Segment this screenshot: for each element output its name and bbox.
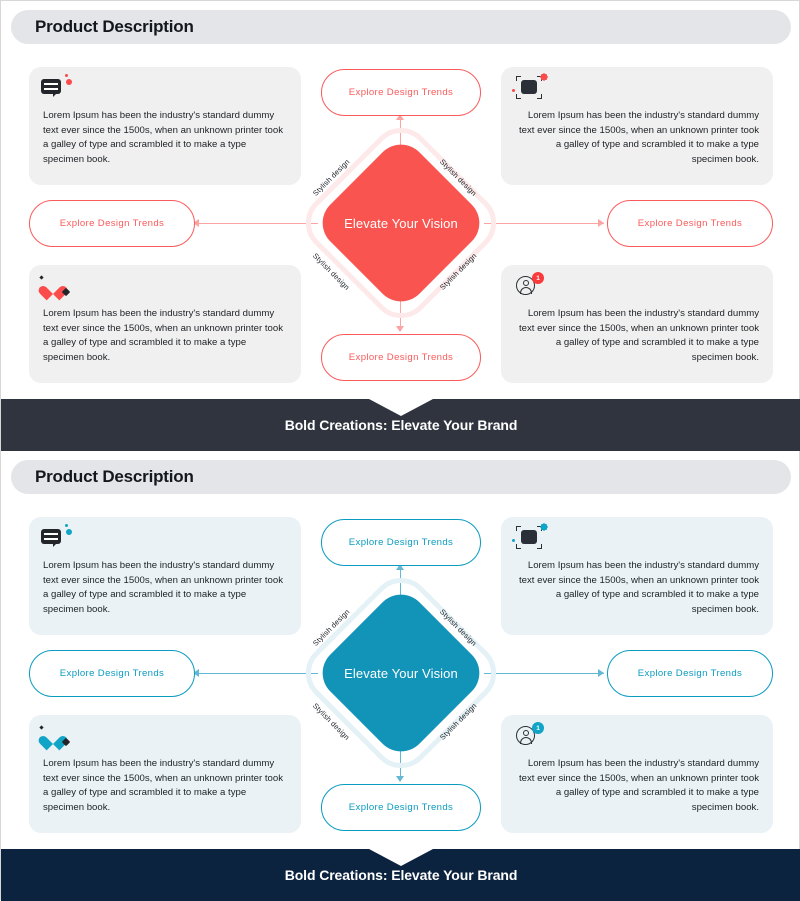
arrow-right-icon	[598, 669, 604, 677]
button-label: Explore Design Trends	[638, 668, 742, 679]
explore-design-trends-button-top[interactable]: Explore Design Trends	[321, 519, 481, 566]
footer-text: Bold Creations: Elevate Your Brand	[285, 417, 518, 433]
section-header-bar: Product Description	[11, 10, 791, 44]
button-label: Explore Design Trends	[638, 218, 742, 229]
section-header-bar: Product Description	[11, 460, 791, 494]
feature-card-text: Lorem Ipsum has been the industry's stan…	[513, 307, 761, 365]
chat-bubble-icon	[41, 77, 83, 103]
feature-card-top-left: Lorem Ipsum has been the industry's stan…	[29, 67, 301, 185]
feature-card-top-right: Lorem Ipsum has been the industry's stan…	[501, 517, 773, 635]
page-title: Product Description	[35, 467, 194, 487]
feature-card-text: Lorem Ipsum has been the industry's stan…	[41, 109, 289, 167]
feature-card-text: Lorem Ipsum has been the industry's stan…	[41, 559, 289, 617]
explore-design-trends-button-bottom[interactable]: Explore Design Trends	[321, 334, 481, 381]
explore-design-trends-button-left[interactable]: Explore Design Trends	[29, 650, 195, 697]
button-label: Explore Design Trends	[349, 87, 453, 98]
infographic-section-teal: Product Description Lorem Ipsum has been…	[1, 451, 800, 901]
feature-card-bottom-right: 1 Lorem Ipsum has been the industry's st…	[501, 715, 773, 833]
feature-card-top-left: Lorem Ipsum has been the industry's stan…	[29, 517, 301, 635]
page-title: Product Description	[35, 17, 194, 37]
explore-design-trends-button-left[interactable]: Explore Design Trends	[29, 200, 195, 247]
connector-line-left	[198, 223, 318, 224]
connector-line-left	[198, 673, 318, 674]
user-avatar-icon: 1	[515, 725, 557, 751]
feature-card-text: Lorem Ipsum has been the industry's stan…	[41, 757, 289, 815]
footer-text: Bold Creations: Elevate Your Brand	[285, 867, 518, 883]
center-hub: Elevate Your Vision Stylish design Styli…	[321, 593, 481, 753]
feature-card-top-right: Lorem Ipsum has been the industry's stan…	[501, 67, 773, 185]
explore-design-trends-button-top[interactable]: Explore Design Trends	[321, 69, 481, 116]
focus-frame-icon	[515, 527, 557, 553]
connector-line-right	[484, 673, 604, 674]
infographic-page: Product Description Lorem Ipsum has been…	[0, 0, 800, 900]
arrow-right-icon	[598, 219, 604, 227]
footer-band: Bold Creations: Elevate Your Brand	[1, 849, 800, 901]
explore-design-trends-button-bottom[interactable]: Explore Design Trends	[321, 784, 481, 831]
arrow-down-icon	[396, 326, 404, 332]
heart-icon	[41, 275, 83, 301]
focus-frame-icon	[515, 77, 557, 103]
feature-card-text: Lorem Ipsum has been the industry's stan…	[513, 757, 761, 815]
feature-card-bottom-right: 1 Lorem Ipsum has been the industry's st…	[501, 265, 773, 383]
feature-card-bottom-left: Lorem Ipsum has been the industry's stan…	[29, 265, 301, 383]
heart-icon	[41, 725, 83, 751]
user-avatar-icon: 1	[515, 275, 557, 301]
explore-design-trends-button-right[interactable]: Explore Design Trends	[607, 200, 773, 247]
button-label: Explore Design Trends	[60, 218, 164, 229]
center-hub: Elevate Your Vision Stylish design Styli…	[321, 143, 481, 303]
infographic-section-red: Product Description Lorem Ipsum has been…	[1, 1, 800, 451]
explore-design-trends-button-right[interactable]: Explore Design Trends	[607, 650, 773, 697]
feature-card-bottom-left: Lorem Ipsum has been the industry's stan…	[29, 715, 301, 833]
button-label: Explore Design Trends	[349, 352, 453, 363]
notification-badge: 1	[532, 722, 544, 734]
button-label: Explore Design Trends	[349, 802, 453, 813]
feature-card-text: Lorem Ipsum has been the industry's stan…	[513, 559, 761, 617]
notification-badge: 1	[532, 272, 544, 284]
footer-band: Bold Creations: Elevate Your Brand	[1, 399, 800, 451]
feature-card-text: Lorem Ipsum has been the industry's stan…	[513, 109, 761, 167]
arrow-down-icon	[396, 776, 404, 782]
connector-line-right	[484, 223, 604, 224]
button-label: Explore Design Trends	[349, 537, 453, 548]
chat-bubble-icon	[41, 527, 83, 553]
button-label: Explore Design Trends	[60, 668, 164, 679]
feature-card-text: Lorem Ipsum has been the industry's stan…	[41, 307, 289, 365]
